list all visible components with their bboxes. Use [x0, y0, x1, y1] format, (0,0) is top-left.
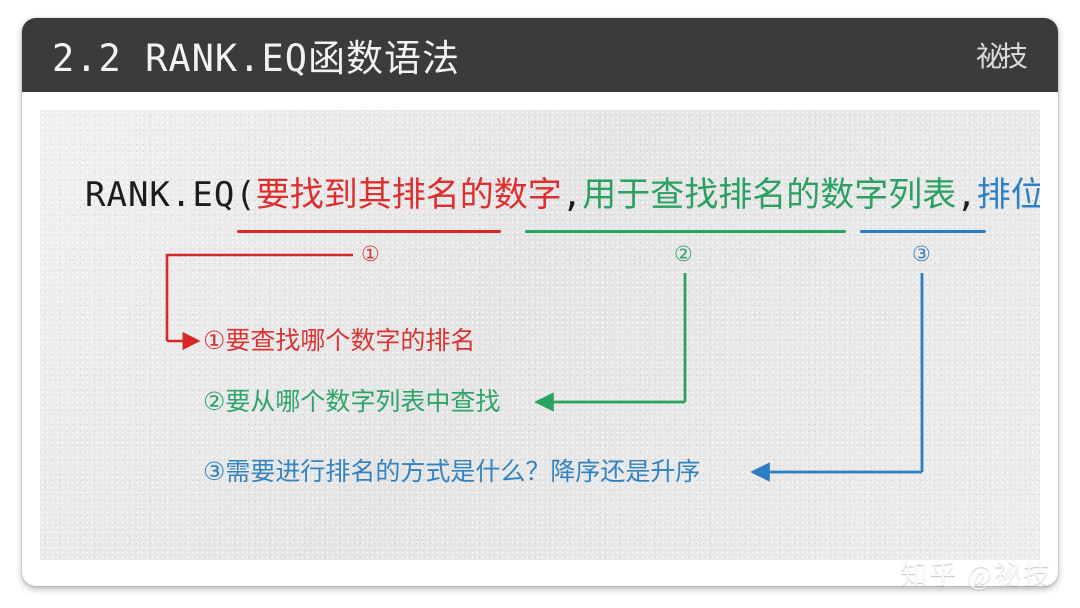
- formula-open-paren: (: [235, 175, 255, 215]
- title-bar: 2.2 RANK.EQ函数语法 祕技: [22, 18, 1058, 92]
- formula-arg-2: 用于查找排名的数字列表: [582, 175, 956, 215]
- formula-function-name: RANK.EQ: [85, 175, 235, 215]
- slide: 2.2 RANK.EQ函数语法 祕技 RANK.EQ(要找到其排名的数字,用于查…: [0, 0, 1080, 608]
- explanation-item-2: ②要从哪个数字列表中查找: [203, 390, 500, 415]
- formula-arg-1: 要找到其排名的数字: [256, 175, 562, 215]
- brand-logo-icon: 祕技: [976, 35, 1024, 75]
- watermark: 知乎 @祕技: [900, 553, 1052, 592]
- explanation-item-3: ③需要进行排名的方式是什么？降序还是升序: [203, 460, 700, 485]
- formula-line: RANK.EQ(要找到其排名的数字,用于查找排名的数字列表,排位方式): [85, 178, 1040, 212]
- formula-comma-1: ,: [562, 175, 582, 215]
- marker-three: ③: [912, 244, 931, 265]
- content-panel: RANK.EQ(要找到其排名的数字,用于查找排名的数字列表,排位方式) ① ② …: [40, 110, 1040, 560]
- formula-comma-2: ,: [956, 175, 976, 215]
- underline-arg-3: [860, 230, 986, 233]
- page-title: 2.2 RANK.EQ函数语法: [52, 28, 460, 82]
- explanation-item-1: ①要查找哪个数字的排名: [203, 329, 475, 354]
- marker-two: ②: [674, 244, 693, 265]
- underline-arg-2: [525, 230, 846, 233]
- marker-one: ①: [361, 244, 380, 265]
- formula-arg-3: 排位方式: [977, 175, 1040, 215]
- underline-arg-1: [237, 230, 501, 233]
